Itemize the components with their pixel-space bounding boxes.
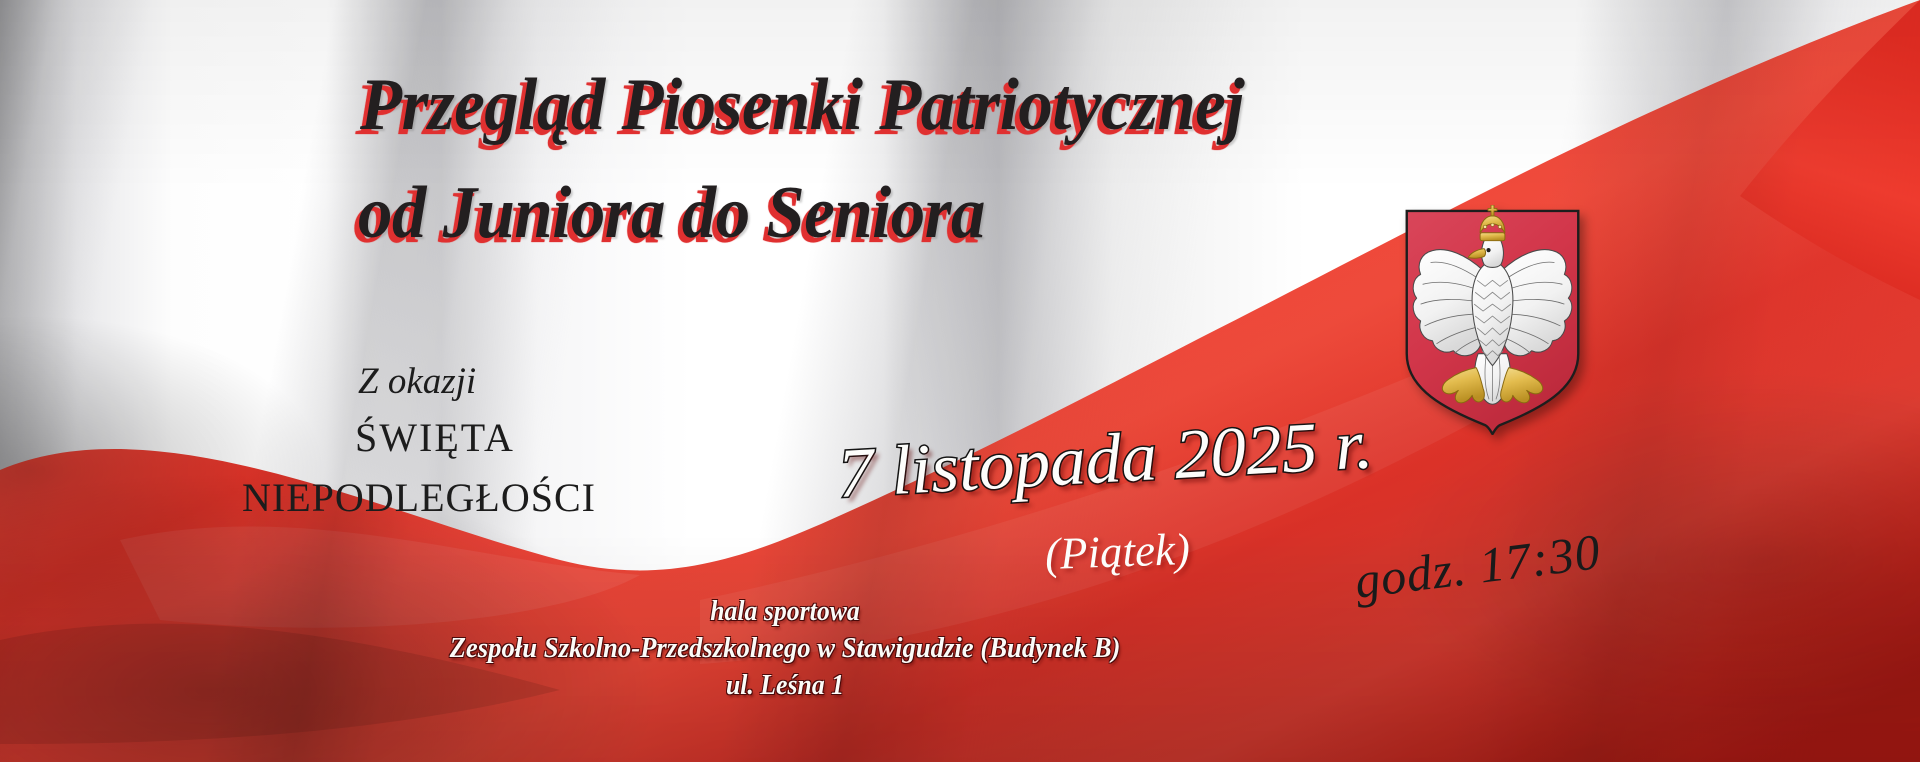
venue-line-1: hala sportowa (63, 596, 1507, 628)
holiday-name-line-2: NIEPODLEGŁOŚCI (242, 474, 596, 521)
crown-band (1480, 233, 1505, 241)
polish-eagle-emblem (1400, 205, 1585, 435)
event-weekday: (Piątek) (1044, 523, 1191, 580)
venue-line-2: Zespołu Szkolno-Przedszkolnego w Stawigu… (63, 632, 1507, 665)
crown-jewel-center (1491, 223, 1494, 226)
occasion-intro-text: Z okazji (358, 360, 476, 403)
crown-jewel-right (1498, 225, 1501, 228)
coat-of-arms-svg (1400, 205, 1585, 435)
poster-canvas: Przegląd Piosenki Patriotycznej od Junio… (0, 0, 1920, 762)
venue-line-3: ul. Leśna 1 (63, 670, 1507, 702)
poster-title-line-2: od Juniora do Seniora (358, 176, 985, 250)
poster-title-line-1: Przegląd Piosenki Patriotycznej (360, 68, 1244, 142)
eagle-eye (1486, 248, 1490, 252)
holiday-name-line-1: ŚWIĘTA (355, 414, 515, 461)
crown-jewel-left (1483, 225, 1486, 228)
